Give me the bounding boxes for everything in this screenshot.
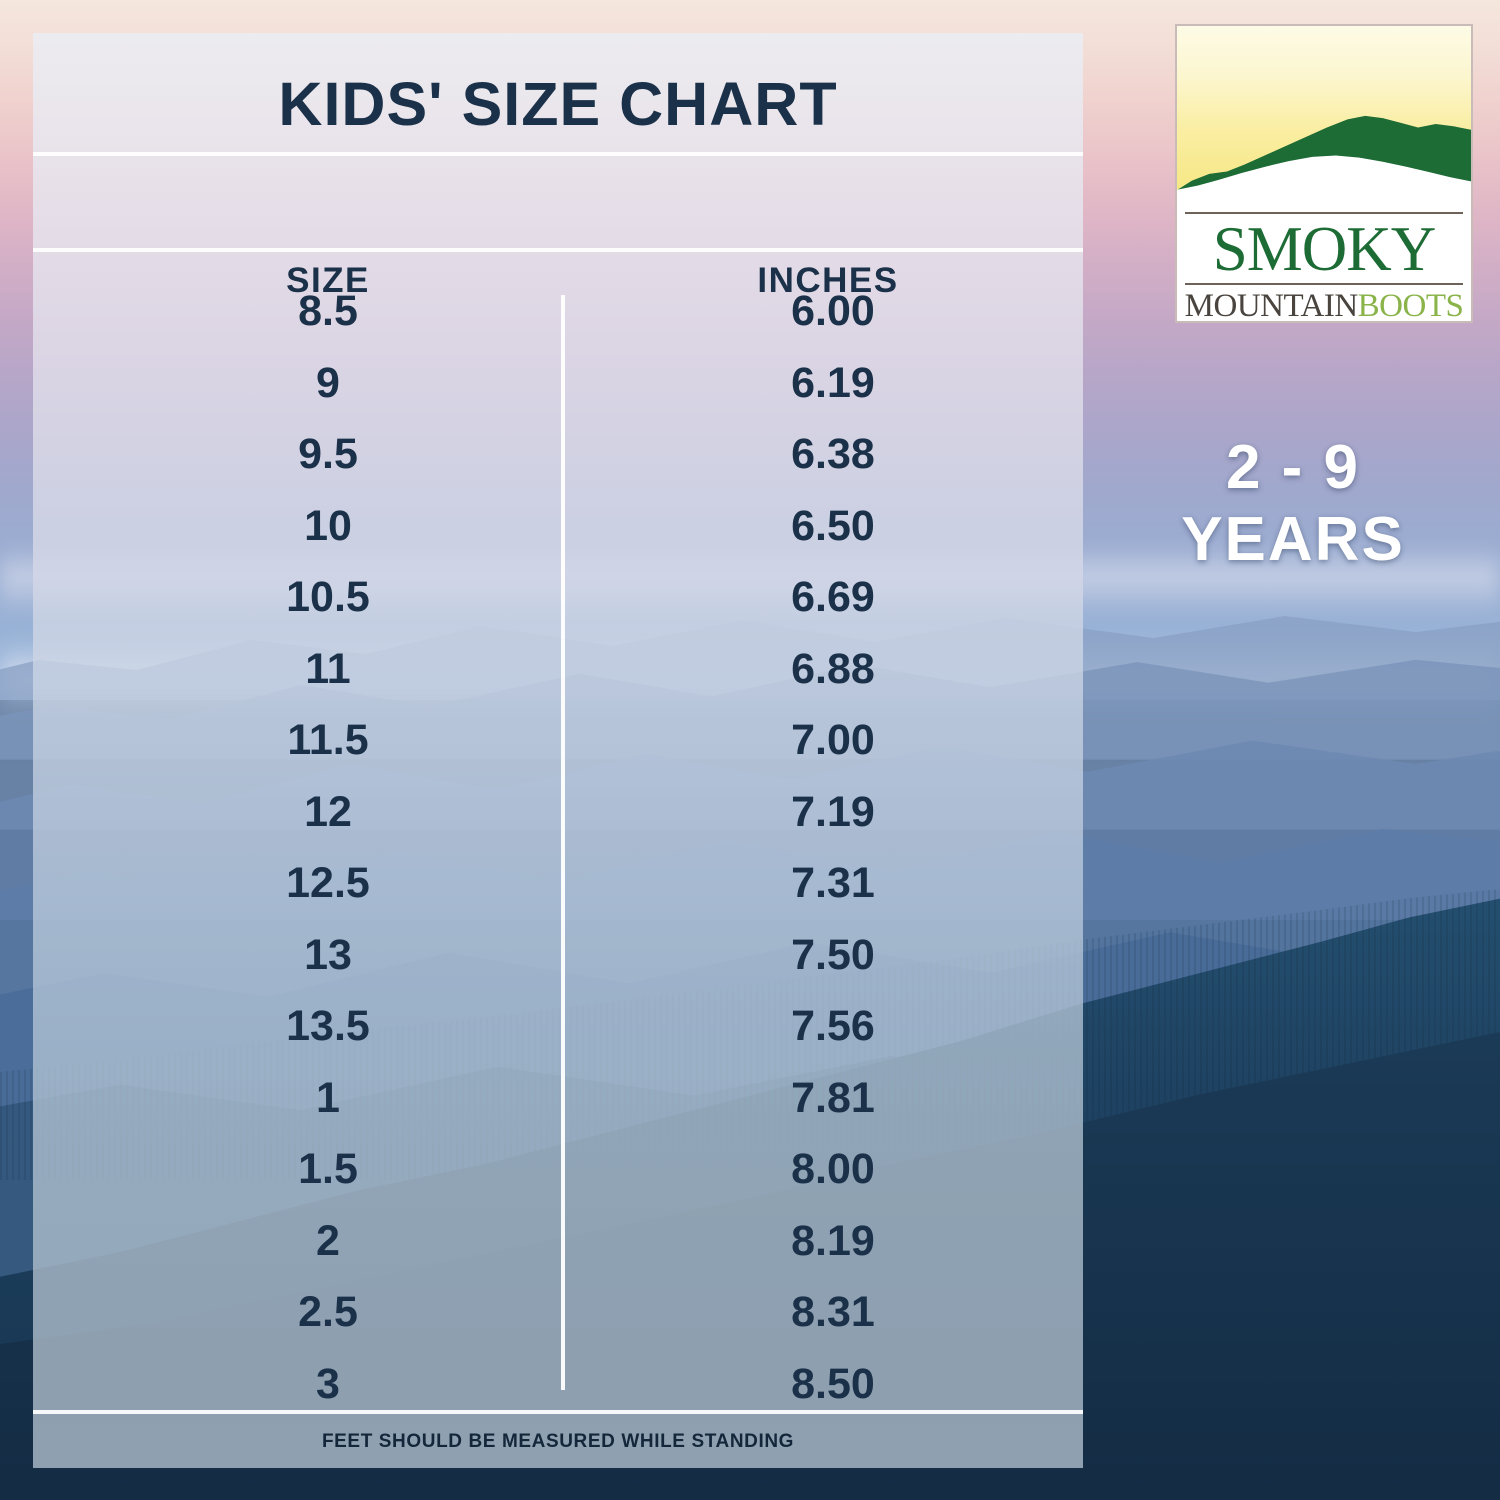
cell-size: 13: [148, 925, 508, 985]
page-title: KIDS' SIZE CHART: [33, 69, 1083, 139]
table-row: 8.5 6.00: [33, 281, 1083, 353]
divider-header-rule: [33, 248, 1083, 252]
cell-inches: 6.00: [653, 281, 1013, 341]
cell-size: 10: [148, 496, 508, 556]
table-row: 1 7.81: [33, 1068, 1083, 1140]
logo-divider-bottom: [1185, 283, 1463, 285]
cell-inches: 8.50: [653, 1354, 1013, 1414]
cell-size: 8.5: [148, 281, 508, 341]
cell-size: 1: [148, 1068, 508, 1128]
table-row: 2 8.19: [33, 1211, 1083, 1283]
age-range-value: 2 - 9: [1093, 432, 1493, 504]
cell-size: 13.5: [148, 996, 508, 1056]
cell-size: 3: [148, 1354, 508, 1414]
cell-inches: 7.00: [653, 710, 1013, 770]
age-range-unit: YEARS: [1093, 504, 1493, 576]
divider-title-rule: [33, 152, 1083, 156]
cell-size: 2: [148, 1211, 508, 1271]
table-row: 9.5 6.38: [33, 424, 1083, 496]
divider-footnote-rule: [33, 1410, 1083, 1414]
cell-inches: 7.31: [653, 853, 1013, 913]
cell-inches: 6.88: [653, 639, 1013, 699]
cell-size: 1.5: [148, 1139, 508, 1199]
logo-word-boots: BOOTS: [1358, 288, 1464, 324]
cell-inches: 7.19: [653, 782, 1013, 842]
cell-inches: 8.31: [653, 1282, 1013, 1342]
age-range-badge: 2 - 9 YEARS: [1093, 432, 1493, 576]
table-row: 1.5 8.00: [33, 1139, 1083, 1211]
brand-logo: SMOKY MOUNTAINBOOTS: [1175, 24, 1473, 323]
size-chart-poster: KIDS' SIZE CHART SIZE INCHES 8.5 6.00 9 …: [0, 0, 1500, 1500]
logo-word-mountain: MOUNTAIN: [1185, 288, 1358, 324]
logo-brand-tagline: MOUNTAINBOOTS: [1177, 288, 1471, 324]
cell-size: 2.5: [148, 1282, 508, 1342]
cell-size: 10.5: [148, 567, 508, 627]
table-row: 12.5 7.31: [33, 853, 1083, 925]
logo-brand-name: SMOKY: [1177, 216, 1471, 282]
cell-inches: 6.50: [653, 496, 1013, 556]
cell-inches: 7.56: [653, 996, 1013, 1056]
cell-size: 11: [148, 639, 508, 699]
cell-size: 11.5: [148, 710, 508, 770]
cell-inches: 7.81: [653, 1068, 1013, 1128]
size-table-body: 8.5 6.00 9 6.19 9.5 6.38 10 6.50 10.5 6.…: [33, 281, 1083, 1425]
cell-inches: 6.19: [653, 353, 1013, 413]
cell-inches: 8.00: [653, 1139, 1013, 1199]
cell-size: 12.5: [148, 853, 508, 913]
table-row: 12 7.19: [33, 782, 1083, 854]
table-row: 13.5 7.56: [33, 996, 1083, 1068]
cell-inches: 7.50: [653, 925, 1013, 985]
table-row: 11.5 7.00: [33, 710, 1083, 782]
cell-size: 12: [148, 782, 508, 842]
table-row: 11 6.88: [33, 639, 1083, 711]
cell-inches: 8.19: [653, 1211, 1013, 1271]
table-row: 3 8.50: [33, 1354, 1083, 1426]
table-row: 10 6.50: [33, 496, 1083, 568]
measurement-note: FEET SHOULD BE MEASURED WHILE STANDING: [33, 1431, 1083, 1453]
size-chart-panel: KIDS' SIZE CHART SIZE INCHES 8.5 6.00 9 …: [33, 33, 1083, 1468]
table-row: 2.5 8.31: [33, 1282, 1083, 1354]
cell-size: 9: [148, 353, 508, 413]
table-row: 13 7.50: [33, 925, 1083, 997]
table-row: 10.5 6.69: [33, 567, 1083, 639]
table-row: 9 6.19: [33, 353, 1083, 425]
cell-size: 9.5: [148, 424, 508, 484]
cell-inches: 6.38: [653, 424, 1013, 484]
cell-inches: 6.69: [653, 567, 1013, 627]
